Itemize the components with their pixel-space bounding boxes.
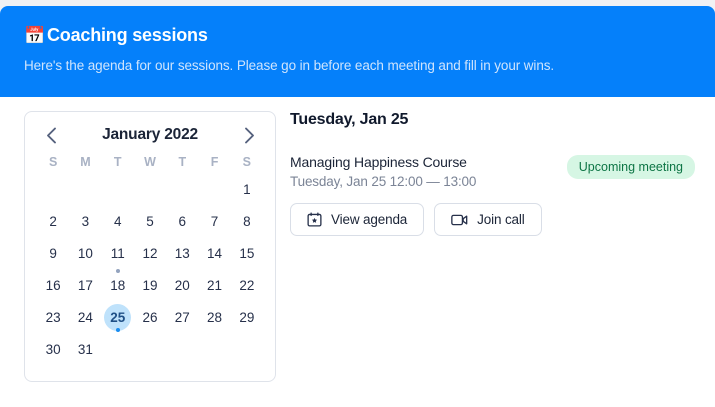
chevron-right-icon [244,127,255,144]
calendar-day-13[interactable]: 13 [166,237,198,269]
calendar-day-number: 19 [136,272,163,299]
calendar-day-number: 4 [104,208,131,235]
calendar-weekday-6: S [231,155,263,169]
calendar-day-blank [69,173,101,205]
calendar-day-number: 12 [136,240,163,267]
calendar-day-24[interactable]: 24 [69,301,101,333]
video-camera-icon [451,213,468,227]
calendar-day-number: 24 [72,304,99,331]
calendar-weekday-1: M [69,155,101,169]
calendar-day-12[interactable]: 12 [134,237,166,269]
calendar-header: January 2022 [37,122,263,148]
calendar-day-3[interactable]: 3 [69,205,101,237]
calendar-day-blank [37,173,69,205]
calendar-day-number: 23 [40,304,67,331]
calendar-day-4[interactable]: 4 [102,205,134,237]
calendar-day-14[interactable]: 14 [198,237,230,269]
calendar-day-11[interactable]: 11 [102,237,134,269]
calendar-weekday-row: SMTWTFS [37,155,263,169]
calendar-day-number: 9 [40,240,67,267]
calendar-day-grid: 1234567891011121314151617181920212223242… [37,173,263,365]
banner-subtitle: Here's the agenda for our sessions. Plea… [24,57,691,74]
calendar-day-30[interactable]: 30 [37,333,69,365]
calendar-day-number: 26 [136,304,163,331]
calendar-day-number: 15 [233,240,260,267]
calendar-day-number: 29 [233,304,260,331]
calendar-day-event-dot [116,328,120,332]
calendar-day-10[interactable]: 10 [69,237,101,269]
calendar-day-number: 10 [72,240,99,267]
calendar-day-number: 18 [104,272,131,299]
calendar-day-6[interactable]: 6 [166,205,198,237]
event-info: Managing Happiness Course Tuesday, Jan 2… [290,154,476,189]
calendar-weekday-5: F [198,155,230,169]
prev-month-button[interactable] [41,123,61,147]
event-time: Tuesday, Jan 25 12:00 — 13:00 [290,174,476,189]
calendar-day-28[interactable]: 28 [198,301,230,333]
calendar-day-number: 7 [201,208,228,235]
join-call-button[interactable]: Join call [434,203,541,236]
content-area: January 2022 SMTWTFS 1234567891011121314… [0,97,715,407]
calendar-day-18[interactable]: 18 [102,269,134,301]
calendar-day-blank [102,173,134,205]
calendar-day-number: 2 [40,208,67,235]
calendar-day-number: 8 [233,208,260,235]
detail-date-heading: Tuesday, Jan 25 [290,111,695,129]
calendar-day-26[interactable]: 26 [134,301,166,333]
calendar-day-22[interactable]: 22 [231,269,263,301]
chevron-left-icon [46,127,57,144]
view-agenda-button[interactable]: View agenda [290,203,424,236]
calendar-month-label: January 2022 [102,126,198,144]
calendar-day-2[interactable]: 2 [37,205,69,237]
day-detail-panel: Tuesday, Jan 25 Managing Happiness Cours… [290,111,695,236]
calendar-day-number: 16 [40,272,67,299]
calendar-day-number: 31 [72,336,99,363]
calendar-day-20[interactable]: 20 [166,269,198,301]
calendar-day-31[interactable]: 31 [69,333,101,365]
calendar-day-number: 30 [40,336,67,363]
calendar-day-8[interactable]: 8 [231,205,263,237]
calendar-day-number: 11 [104,240,131,267]
calendar-weekday-2: T [102,155,134,169]
coaching-sessions-banner: 📅 Coaching sessions Here's the agenda fo… [0,6,715,97]
next-month-button[interactable] [239,123,259,147]
calendar-day-15[interactable]: 15 [231,237,263,269]
calendar-day-17[interactable]: 17 [69,269,101,301]
calendar-day-number: 20 [169,272,196,299]
calendar-star-icon [307,212,322,227]
calendar-day-event-dot [116,269,120,273]
calendar-weekday-0: S [37,155,69,169]
calendar-day-number: 14 [201,240,228,267]
page-title: Coaching sessions [47,24,208,46]
calendar-day-blank [134,173,166,205]
calendar-day-number: 27 [169,304,196,331]
calendar-day-number: 1 [233,176,260,203]
view-agenda-label: View agenda [331,212,407,227]
calendar-card: January 2022 SMTWTFS 1234567891011121314… [24,111,276,382]
calendar-day-blank [166,173,198,205]
calendar-day-number: 22 [233,272,260,299]
calendar-day-16[interactable]: 16 [37,269,69,301]
status-badge: Upcoming meeting [567,155,695,179]
calendar-day-9[interactable]: 9 [37,237,69,269]
calendar-emoji-icon: 📅 [24,27,45,44]
calendar-day-number: 5 [136,208,163,235]
calendar-day-25[interactable]: 25 [102,301,134,333]
calendar-day-blank [198,173,230,205]
calendar-day-number: 13 [169,240,196,267]
event-action-buttons: View agenda Join call [290,203,695,236]
calendar-day-number: 3 [72,208,99,235]
calendar-day-21[interactable]: 21 [198,269,230,301]
event-title: Managing Happiness Course [290,154,476,170]
calendar-weekday-4: T [166,155,198,169]
calendar-day-1[interactable]: 1 [231,173,263,205]
calendar-weekday-3: W [134,155,166,169]
calendar-day-number: 28 [201,304,228,331]
banner-title-row: 📅 Coaching sessions [24,24,691,46]
calendar-day-number: 21 [201,272,228,299]
join-call-label: Join call [477,212,524,227]
calendar-day-number: 6 [169,208,196,235]
calendar-day-27[interactable]: 27 [166,301,198,333]
calendar-day-number: 17 [72,272,99,299]
calendar-day-23[interactable]: 23 [37,301,69,333]
calendar-day-29[interactable]: 29 [231,301,263,333]
event-row: Managing Happiness Course Tuesday, Jan 2… [290,154,695,189]
calendar-day-7[interactable]: 7 [198,205,230,237]
calendar-day-19[interactable]: 19 [134,269,166,301]
calendar-day-5[interactable]: 5 [134,205,166,237]
calendar-day-number: 25 [104,304,131,331]
